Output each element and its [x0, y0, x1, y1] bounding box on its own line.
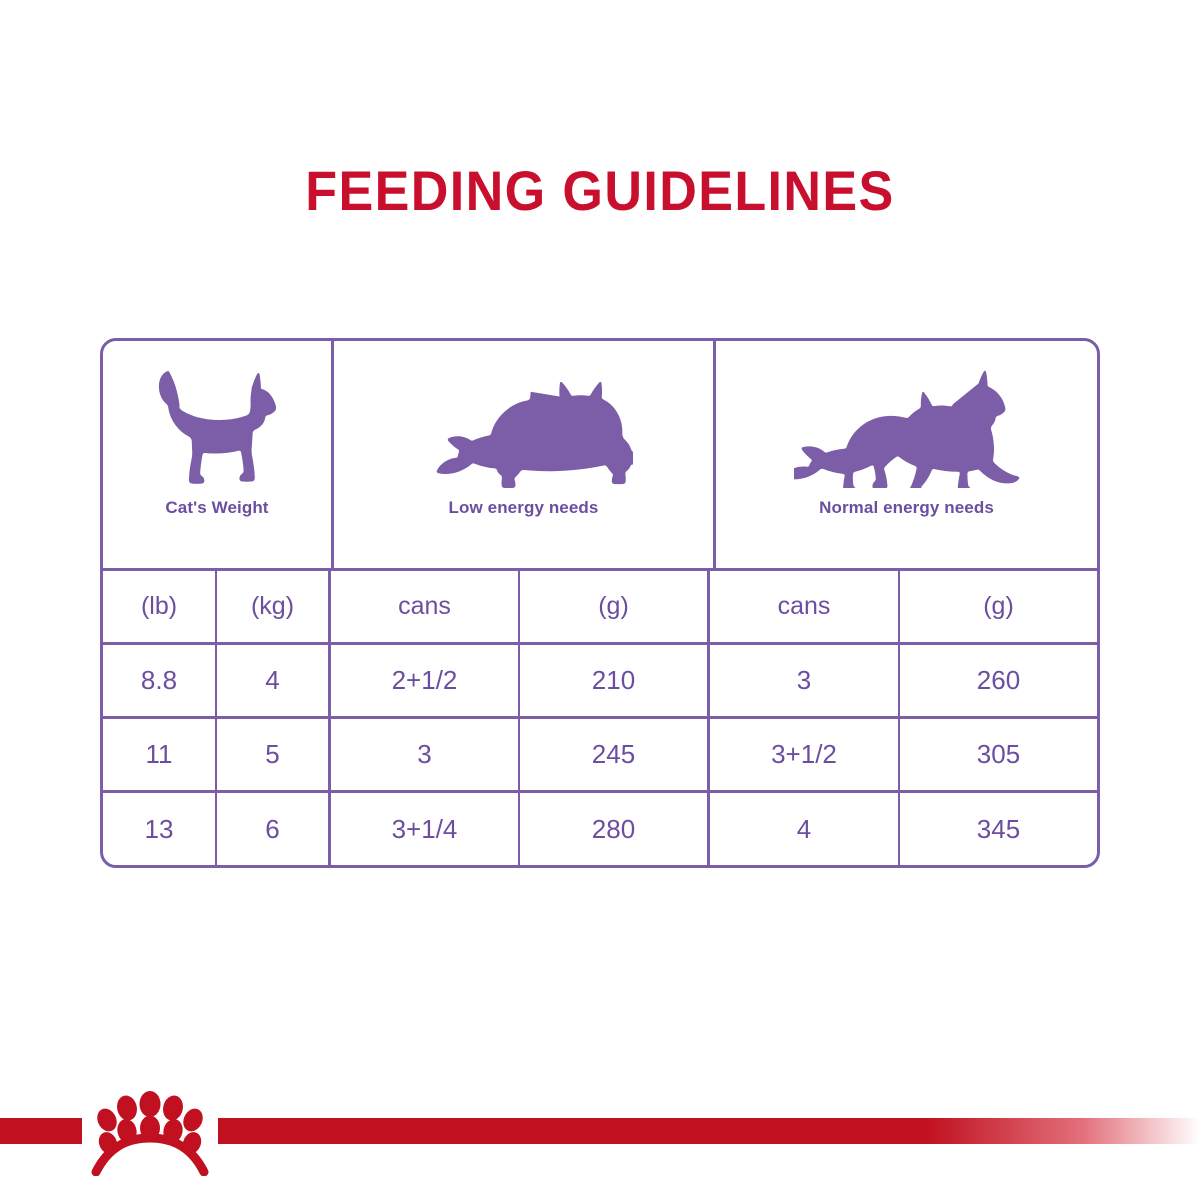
walking-cat-silhouette — [794, 363, 1020, 488]
page-title: FEEDING GUIDELINES — [42, 158, 1158, 223]
header-group-cats-weight: Cat's Weight — [103, 341, 331, 568]
cell-low-grams: 245 — [518, 719, 707, 790]
subheader-cell-kg: (kg) — [215, 571, 328, 642]
cell-weight-kg: 6 — [215, 793, 328, 865]
header-group-label: Cat's Weight — [165, 498, 268, 518]
cell-low-cans: 3 — [328, 719, 518, 790]
cell-normal-grams: 345 — [898, 793, 1097, 865]
cell-weight-lb: 11 — [103, 719, 215, 790]
standing-cat-silhouette — [158, 363, 276, 488]
cell-weight-lb: 13 — [103, 793, 215, 865]
brand-footer — [0, 1090, 1200, 1200]
header-group-low-energy: Low energy needs — [331, 341, 713, 568]
subheader-cell-lb: (lb) — [103, 571, 215, 642]
footer-bar-right — [218, 1118, 1200, 1144]
cell-normal-cans: 3 — [707, 645, 898, 716]
table-grid: (lb) (kg) cans (g) cans (g) 8.8 4 2+1/2 … — [103, 568, 1097, 865]
cell-weight-kg: 5 — [215, 719, 328, 790]
header-group-label: Normal energy needs — [819, 498, 994, 518]
cell-weight-kg: 4 — [215, 645, 328, 716]
cell-low-grams: 280 — [518, 793, 707, 865]
subheader-cell-low-g: (g) — [518, 571, 707, 642]
table-subheader-row: (lb) (kg) cans (g) cans (g) — [103, 568, 1097, 642]
cell-low-grams: 210 — [518, 645, 707, 716]
header-group-normal-energy: Normal energy needs — [713, 341, 1097, 568]
cell-normal-grams: 260 — [898, 645, 1097, 716]
header-group-label: Low energy needs — [449, 498, 599, 518]
cell-weight-lb: 8.8 — [103, 645, 215, 716]
cell-normal-cans: 4 — [707, 793, 898, 865]
lying-cat-silhouette — [415, 363, 633, 488]
cell-normal-grams: 305 — [898, 719, 1097, 790]
subheader-cell-low-cans: cans — [328, 571, 518, 642]
cell-low-cans: 2+1/2 — [328, 645, 518, 716]
royal-canin-crown-icon — [82, 1090, 218, 1176]
table-row: 8.8 4 2+1/2 210 3 260 — [103, 642, 1097, 716]
table-row: 11 5 3 245 3+1/2 305 — [103, 716, 1097, 790]
table-header-band: Cat's Weight Low energy needs Normal ene… — [103, 341, 1097, 568]
subheader-cell-normal-g: (g) — [898, 571, 1097, 642]
subheader-cell-normal-cans: cans — [707, 571, 898, 642]
table-row: 13 6 3+1/4 280 4 345 — [103, 790, 1097, 865]
feeding-guidelines-table: Cat's Weight Low energy needs Normal ene… — [100, 338, 1100, 868]
footer-bar-left — [0, 1118, 82, 1144]
cell-normal-cans: 3+1/2 — [707, 719, 898, 790]
cell-low-cans: 3+1/4 — [328, 793, 518, 865]
